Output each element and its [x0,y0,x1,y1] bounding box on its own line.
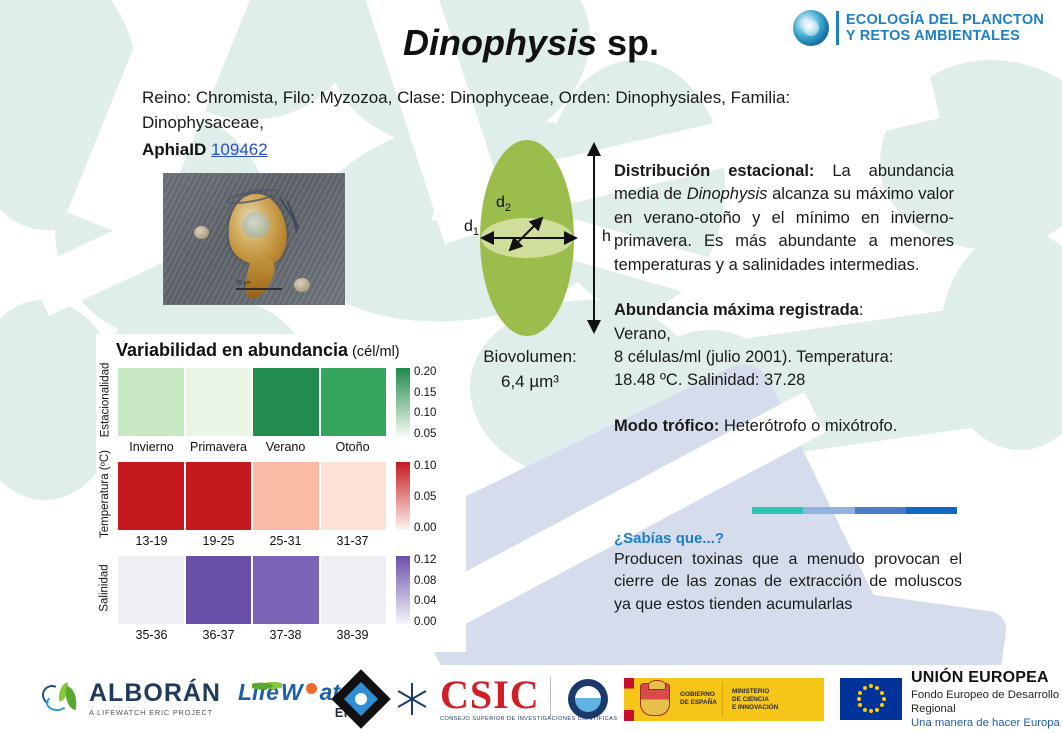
lifewatch-leaf-icon [252,680,282,692]
eu-star-icon [882,697,886,701]
aphia-id-row: AphiaID 109462 [142,140,268,160]
heatmap-colorbar-tick: 0.10 [414,407,436,419]
eu-star-icon [863,708,867,712]
heatmap-cells [118,368,386,436]
heatmap-cell [253,368,319,436]
h-label: h [602,228,611,246]
trophic-heading: Modo trófico: [614,417,719,435]
did-you-know-section: ¿Sabías que...? Producen toxinas que a m… [614,530,962,616]
micrograph-particle [294,278,310,292]
distribution-heading: Distribución estacional: [614,162,814,180]
chart-title: Variabilidad en abundancia (cél/ml) [116,340,400,361]
heatmap-x-tick-labels: 13-1919-2525-3131-37 [118,534,386,548]
eu-star-icon [875,708,879,712]
heatmap-cell [253,556,319,624]
heatmap-colorbar [396,556,410,624]
heatmap-x-tick: 38-39 [319,628,386,642]
eu-star-icon [858,691,862,695]
heatmap-y-axis-label-text: Salinidad [99,564,111,611]
eu-star-icon [869,684,873,688]
heatmap-x-tick: 19-25 [185,534,252,548]
did-you-know-body: Producen toxinas que a menudo provocan e… [614,549,962,616]
heatmap-cells [118,556,386,624]
ministerio-text: MINISTERIO DE CIENCIA E INNOVACIÓN [732,688,778,713]
heatmap-colorbar-ticks: 0.200.150.100.05 [414,362,460,438]
heatmap-x-tick: 35-36 [118,628,185,642]
scale-bar-label: 20 µm [236,280,251,286]
infographic-poster: ECOLOGÍA DEL PLANCTON Y RETOS AMBIENTALE… [0,0,1062,733]
eu-star-icon [858,703,862,707]
heatmap-cell [186,368,252,436]
d2-label: d2 [496,194,511,214]
title-species: sp. [597,22,659,63]
heatmap-x-tick: 25-31 [252,534,319,548]
icm-logo [340,678,382,720]
biovolume-annotations [460,132,620,347]
divider-segment [803,507,854,514]
micrograph-image: 20 µm [163,173,345,305]
biovolume-caption: Biovolumen: 6,4 µm³ [440,345,620,394]
heatmap-cell [321,368,387,436]
icm-diamond-icon [331,669,390,728]
heatmap-y-axis-label-text: Temperatura (ºC) [99,450,111,538]
biovolume-caption-line2: 6,4 µm³ [440,370,620,395]
lifewatch-name-w: W [281,679,303,706]
heatmap-y-axis-label: Salinidad [96,554,114,622]
heatmap-cell [321,556,387,624]
biovolume-diagram: d1 d2 h [480,140,590,340]
heatmap-colorbar-ticks: 0.100.050.00 [414,456,460,532]
heatmap-y-axis-label: Estacionalidad [96,366,114,434]
max-abundance-line2: 8 células/ml (julio 2001). Temperatura: [614,346,954,369]
distribution-section: Distribución estacional: La abundancia m… [614,160,954,277]
heatmap-cell [118,368,184,436]
heatmap-cells [118,462,386,530]
heatmap-colorbar-tick: 0.20 [414,366,436,378]
heatmap-colorbar-tick: 0.00 [414,522,436,534]
heatmap-colorbar-tick: 0.15 [414,387,436,399]
eu-star-icon [863,686,867,690]
heatmap-colorbar-ticks: 0.120.080.040.00 [414,550,460,626]
micrograph-particle [194,226,209,239]
heatmap-colorbar-tick: 0.10 [414,460,436,472]
eu-star-icon [880,691,884,695]
trophic-section: Modo trófico: Heterótrofo o mixótrofo. [614,415,954,438]
eu-star-icon [869,709,873,713]
heatmap-colorbar [396,368,410,436]
eu-flag-icon [840,678,902,720]
aphia-label: AphiaID [142,140,206,159]
scale-bar [236,288,282,290]
trophic-body: Heterótrofo o mixótrofo. [719,417,897,435]
eu-line3: Una manera de hacer Europa [911,716,1062,730]
eu-star-icon [857,697,861,701]
taxonomy-text: Reino: Chromista, Filo: Myzozoa, Clase: … [142,86,882,135]
gobierno-text: GOBIERNO DE ESPAÑA [680,691,717,708]
max-abundance-line3: 18.48 ºC. Salinidad: 37.28 [614,369,954,392]
heatmap-x-tick: 31-37 [319,534,386,548]
heatmap-cell [118,462,184,530]
heatmap-cell [186,556,252,624]
distribution-genus: Dinophysis [687,185,768,203]
title-genus: Dinophysis [403,22,597,63]
heatmap-colorbar-tick: 0.08 [414,575,436,587]
heatmap-row: Salinidad35-3636-3737-3838-390.120.080.0… [96,554,466,650]
biovolume-caption-line1: Biovolumen: [440,345,620,370]
gobierno-espana-logo: GOBIERNO DE ESPAÑA MINISTERIO DE CIENCIA… [624,678,824,721]
eu-line2: Fondo Europeo de Desarrollo Regional [911,688,1062,716]
alboran-tagline: A LIFEWATCH ERIC PROJECT [89,709,221,716]
heatmap-colorbar-tick: 0.04 [414,595,436,607]
csic-snowflake-icon [392,681,432,717]
heatmap-y-axis-label-text: Estacionalidad [99,363,111,438]
eu-star-icon [880,703,884,707]
abundance-heatmap-chart: Variabilidad en abundancia (cél/ml) Esta… [96,334,466,652]
heatmap-row: EstacionalidadInviernoPrimaveraVeranoOto… [96,366,466,462]
d1-label: d1 [464,218,479,238]
heatmap-x-tick: Verano [252,440,319,454]
max-abundance-section: Abundancia máxima registrada: Verano, 8 … [614,299,954,393]
eu-star-icon [875,686,879,690]
heatmap-cell [186,462,252,530]
info-column: Distribución estacional: La abundancia m… [614,160,954,454]
heatmap-colorbar-tick: 0.12 [414,554,436,566]
section-divider-bar [752,507,957,514]
heatmap-colorbar [396,462,410,530]
divider-segment [855,507,906,514]
did-you-know-heading: ¿Sabías que...? [614,530,962,547]
european-union-logo: UNIÓN EUROPEA Fondo Europeo de Desarroll… [840,668,1062,730]
heatmap-colorbar-tick: 0.00 [414,616,436,628]
chart-title-unit: (cél/ml) [348,344,400,360]
ieo-logo [568,679,608,719]
heatmap-x-tick: 36-37 [185,628,252,642]
spain-flag-banner: GOBIERNO DE ESPAÑA MINISTERIO DE CIENCIA… [624,678,824,721]
heatmap-colorbar-tick: 0.05 [414,428,436,440]
heatmap-cell [321,462,387,530]
dinophysis-cell-nucleus [242,212,270,238]
eu-title: UNIÓN EUROPEA [911,668,1062,688]
page-title: Dinophysis sp. [0,22,1062,64]
max-abundance-line1: Verano, [614,323,954,346]
heatmap-colorbar-tick: 0.05 [414,491,436,503]
heatmap-x-tick: 13-19 [118,534,185,548]
chart-title-main: Variabilidad en abundancia [116,340,348,360]
heatmap-x-tick-labels: InviernoPrimaveraVeranoOtoño [118,440,386,454]
heatmap-x-tick: Invierno [118,440,185,454]
heatmap-cell [118,556,184,624]
max-abundance-heading: Abundancia máxima registrada [614,301,859,319]
heatmap-x-tick: 37-38 [252,628,319,642]
heatmap-y-axis-label: Temperatura (ºC) [96,460,114,528]
lifewatch-dot-icon [306,683,317,694]
heatmap-row: Temperatura (ºC)13-1919-2525-3131-370.10… [96,460,466,556]
divider-segment [906,507,957,514]
heatmap-x-tick: Otoño [319,440,386,454]
divider-segment [752,507,803,514]
alboran-logo: ALBORÁN A LIFEWATCH ERIC PROJECT [40,681,221,716]
alboran-mark-icon [40,682,82,716]
max-abundance-colon: : [859,301,864,319]
ieo-circle-icon [568,679,608,719]
heatmap-x-tick: Primavera [185,440,252,454]
heatmap-x-tick-labels: 35-3636-3737-3838-39 [118,628,386,642]
alboran-name: ALBORÁN [89,681,221,706]
aphia-id-link[interactable]: 109462 [211,140,268,159]
heatmap-cell [253,462,319,530]
spain-coat-of-arms-icon [640,683,670,716]
footer-logos: ALBORÁN A LIFEWATCH ERIC PROJECT Life W … [0,665,1062,733]
